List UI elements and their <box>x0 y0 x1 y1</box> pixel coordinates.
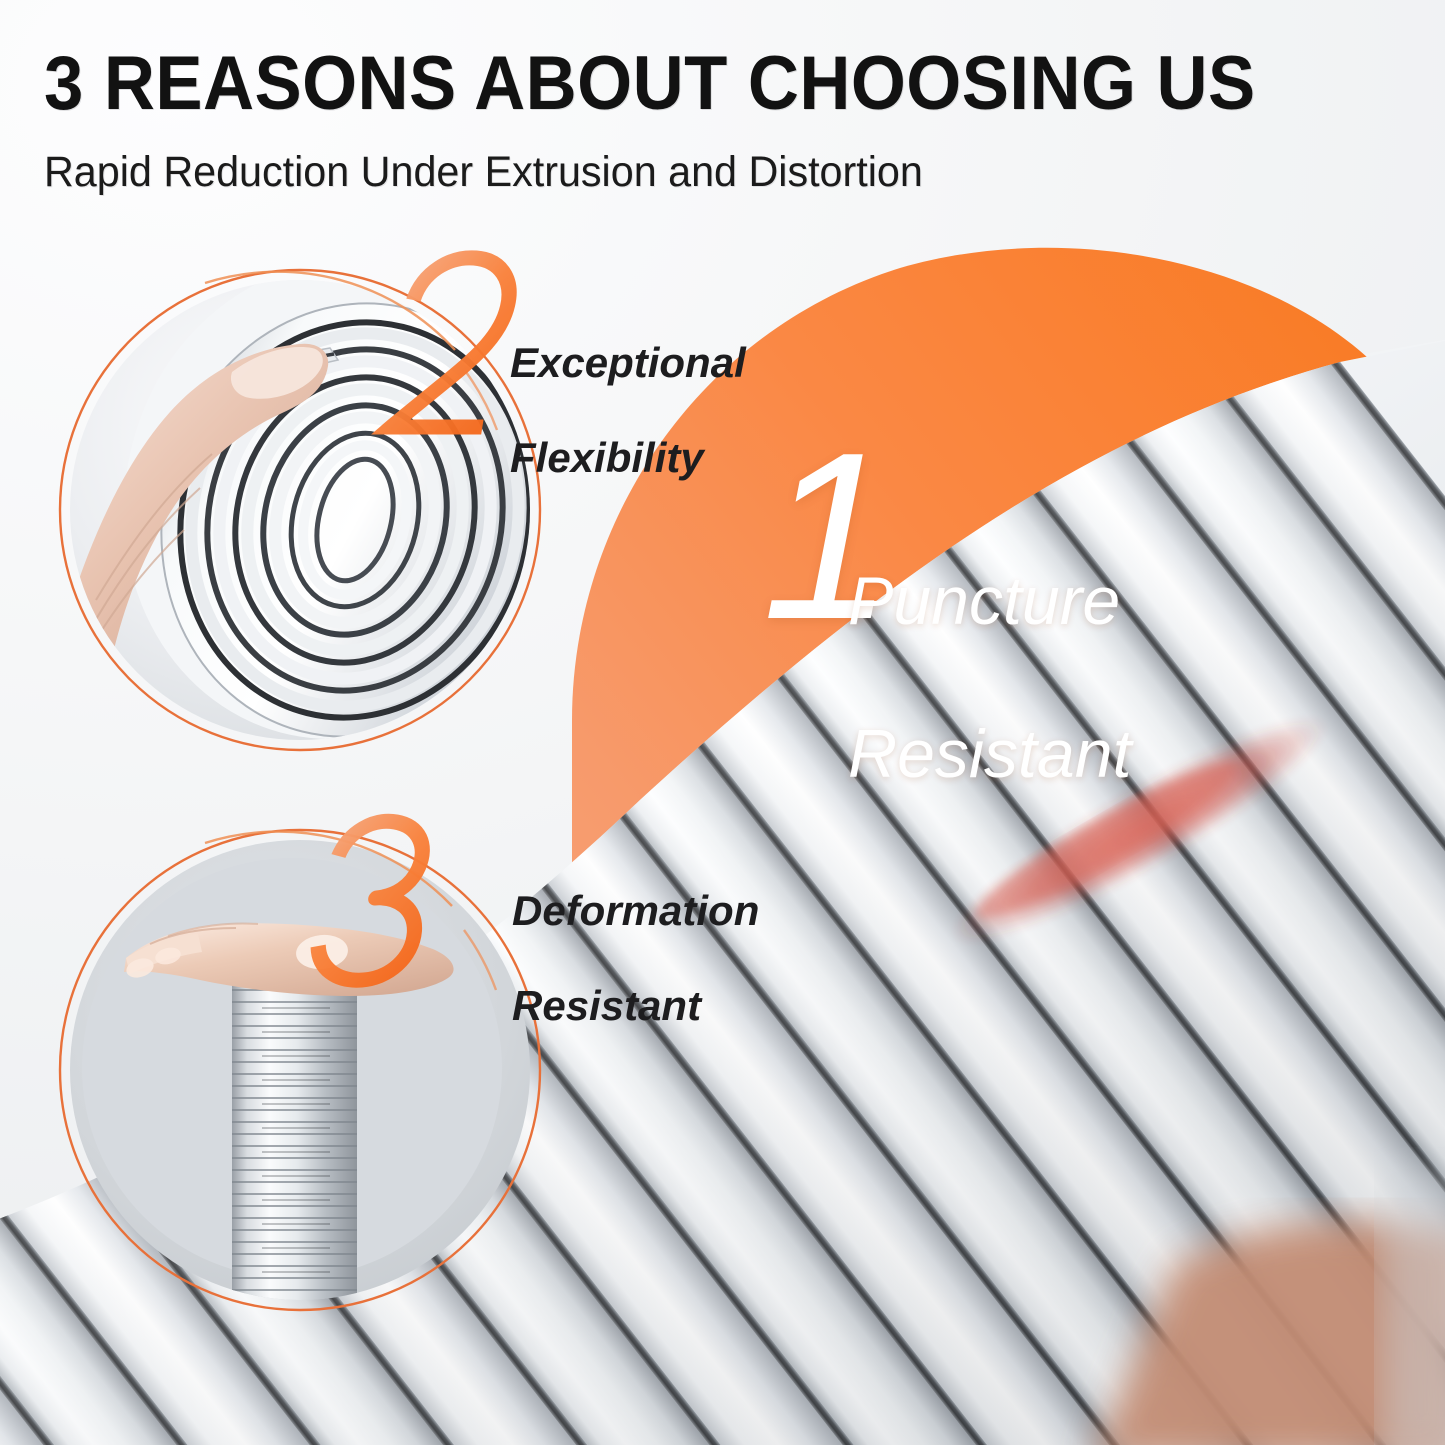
compressed-hose-cylinder <box>232 955 357 1303</box>
feature-label-3: Deformation Resistant <box>512 840 759 1077</box>
feature-label-3-line1: Deformation <box>512 887 759 934</box>
feature-label-1-line2: Resistant <box>848 716 1131 793</box>
page-subtitle: Rapid Reduction Under Extrusion and Dist… <box>44 146 1254 198</box>
photo-deformation-resistant[interactable] <box>0 0 1445 1445</box>
feature-label-3-line2: Resistant <box>512 982 759 1029</box>
header-block: 3 REASONS ABOUT CHOOSING US Rapid Reduct… <box>44 42 1304 198</box>
feature-label-1: Puncture Resistant <box>848 486 1131 870</box>
feature-label-2-line2: Flexibility <box>510 434 746 481</box>
page-title: 3 REASONS ABOUT CHOOSING US <box>44 42 1216 126</box>
feature-label-2-line1: Exceptional <box>510 339 746 386</box>
feature-label-1-line1: Puncture <box>848 563 1131 640</box>
feature-label-2: Exceptional Flexibility <box>510 292 746 529</box>
infographic-canvas: 3 REASONS ABOUT CHOOSING US Rapid Reduct… <box>0 0 1445 1445</box>
